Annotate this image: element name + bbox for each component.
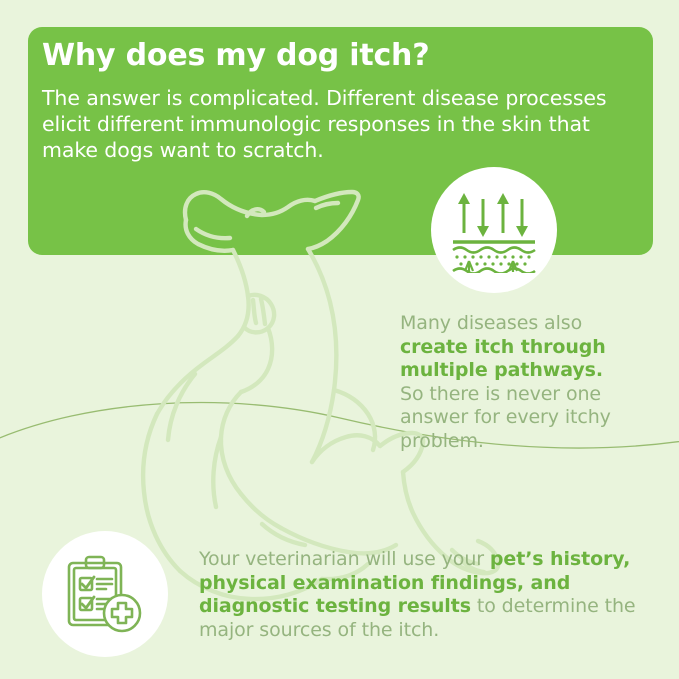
clipboard-checklist-medical-icon [64,553,146,635]
copy-bottom: Your veterinarian will use your pet’s hi… [199,548,639,642]
skin-layers-arrows-icon [451,187,537,273]
hero-card: Why does my dog itch? The answer is comp… [28,27,653,255]
clipboard-icon-badge [42,531,168,657]
copy-emphasis: create itch through multiple pathways. [400,336,606,382]
copy-text: So there is never one answer for every i… [400,383,611,452]
copy-text: Your veterinarian will use your [199,548,490,570]
copy-middle: Many diseases also create itch through m… [400,312,632,453]
hero-body-text: The answer is complicated. Different dis… [42,85,637,163]
copy-text: Many diseases also [400,312,582,334]
skin-icon-badge [431,167,557,293]
page-title: Why does my dog itch? [42,39,602,73]
infographic-page: Why does my dog itch? The answer is comp… [0,0,679,679]
